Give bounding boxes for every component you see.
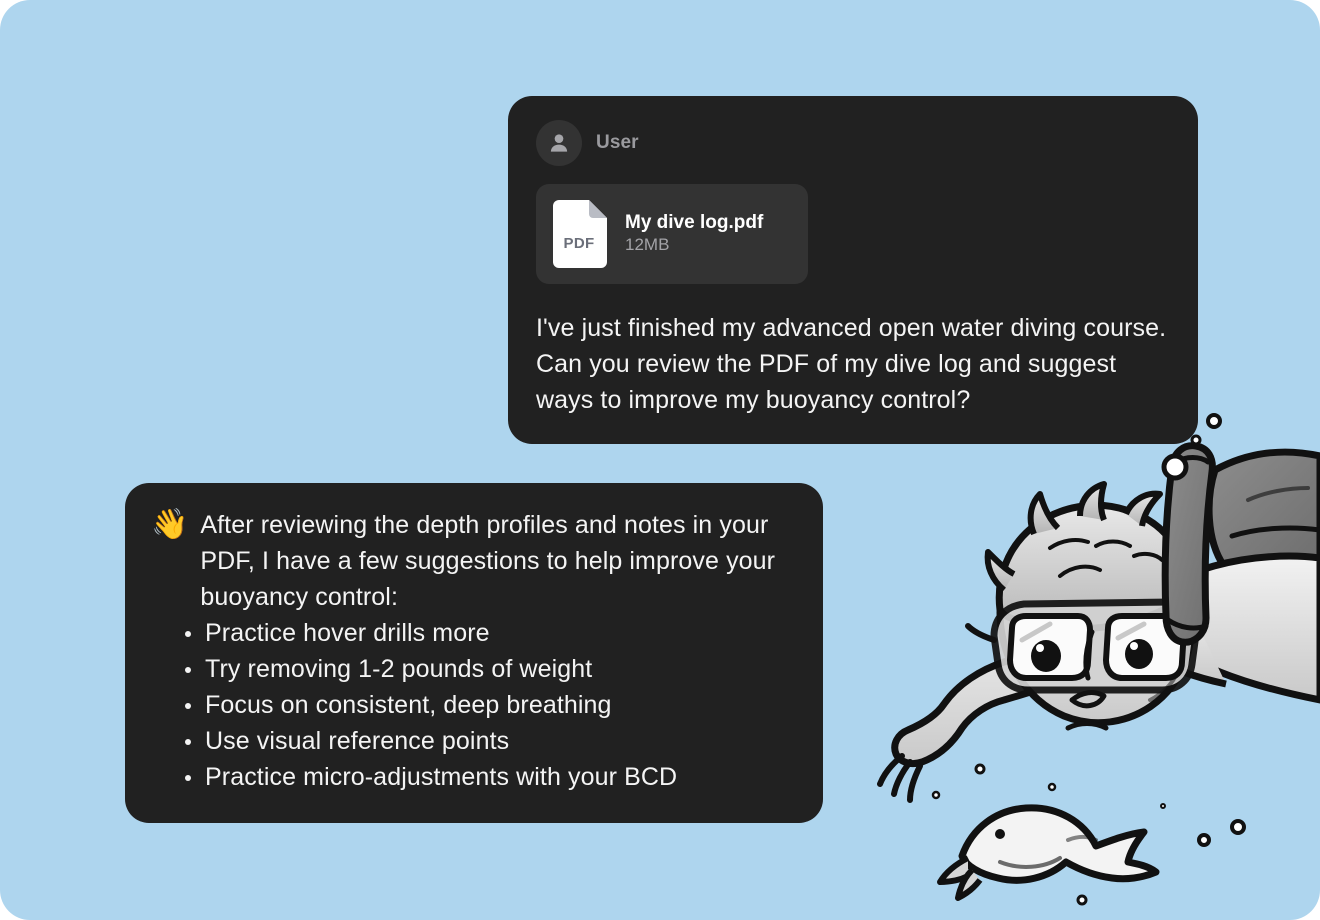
pdf-icon-label: PDF <box>553 235 605 252</box>
attachment-meta: My dive log.pdf 12MB <box>625 212 786 255</box>
waving-hand-emoji: 👋 <box>151 507 188 543</box>
list-item: Practice micro-adjustments with your BCD <box>205 759 793 795</box>
screenshot-canvas: User PDF My dive log.pdf 12MB I've just … <box>0 0 1320 920</box>
assistant-intro-text: After reviewing the depth profiles and n… <box>200 507 793 615</box>
person-avatar-icon <box>536 120 582 166</box>
air-bubbles <box>933 389 1244 905</box>
user-message-text: I've just finished my advanced open wate… <box>536 310 1170 418</box>
list-item: Focus on consistent, deep breathing <box>205 687 793 723</box>
assistant-message-bubble: 👋 After reviewing the depth profiles and… <box>125 483 823 823</box>
fish-illustration <box>940 808 1156 898</box>
assistant-intro: 👋 After reviewing the depth profiles and… <box>151 507 793 615</box>
list-item: Practice hover drills more <box>205 615 793 651</box>
attachment-file-size: 12MB <box>625 235 669 254</box>
pdf-attachment-card[interactable]: PDF My dive log.pdf 12MB <box>536 184 808 284</box>
list-item: Try removing 1-2 pounds of weight <box>205 651 793 687</box>
user-header: User <box>536 120 1170 166</box>
diver-figure <box>880 446 1320 800</box>
list-item: Use visual reference points <box>205 723 793 759</box>
suggestion-list: Practice hover drills more Try removing … <box>151 615 793 795</box>
user-message-bubble: User PDF My dive log.pdf 12MB I've just … <box>508 96 1198 444</box>
user-name-label: User <box>596 132 639 154</box>
attachment-file-name: My dive log.pdf <box>625 212 763 233</box>
pdf-file-icon: PDF <box>553 200 607 268</box>
